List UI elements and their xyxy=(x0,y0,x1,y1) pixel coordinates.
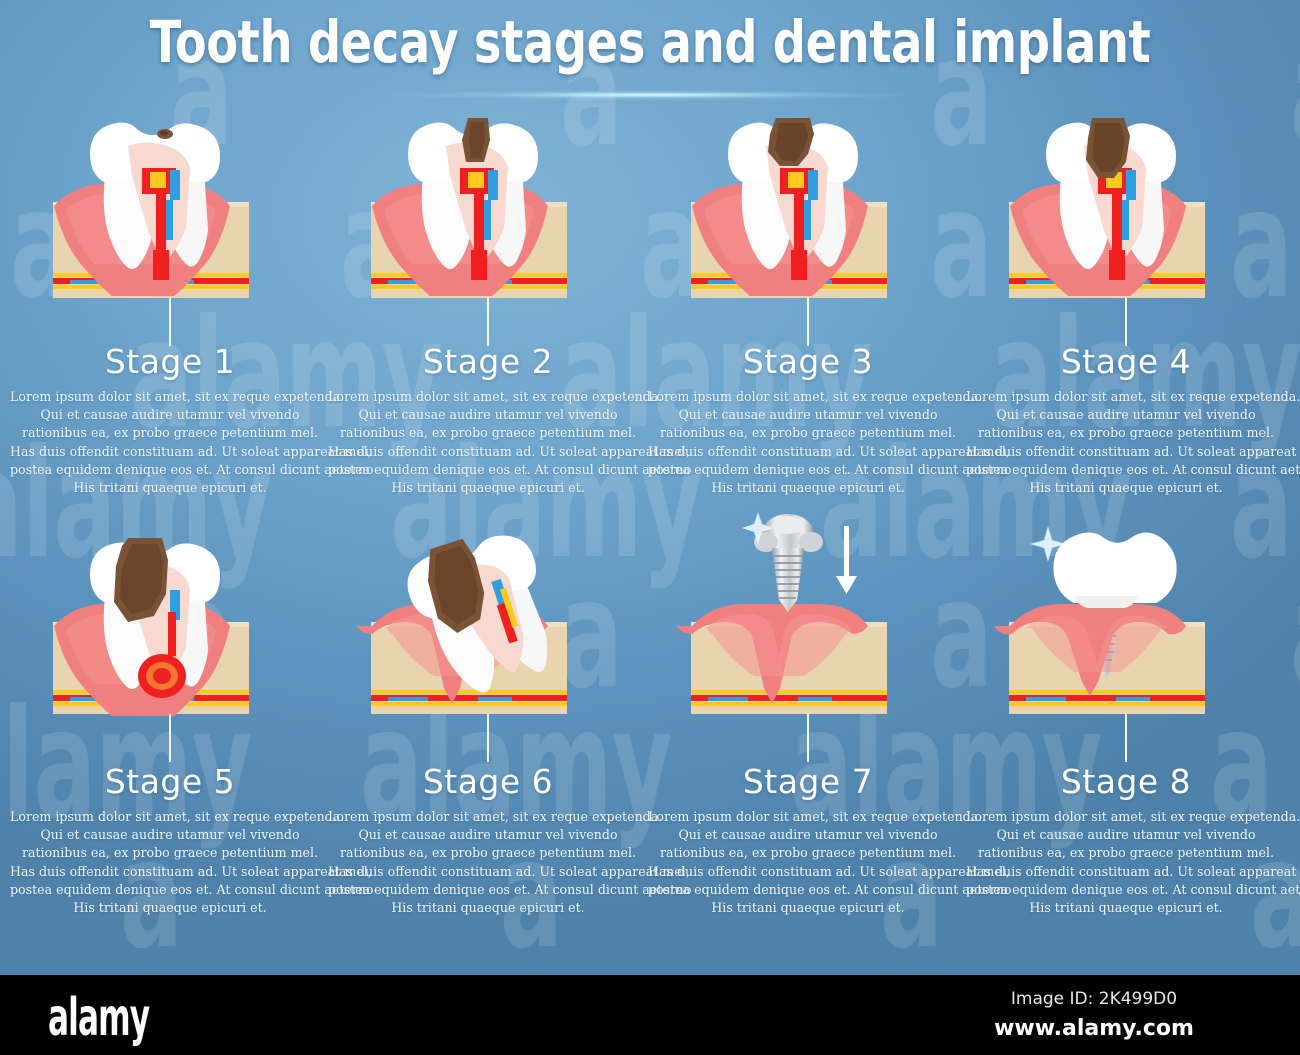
desc-line: Lorem ipsum dolor sit amet, sit ex reque… xyxy=(966,388,1286,406)
desc-line: Qui et causae audire utamur vel vivendo xyxy=(328,826,648,844)
footer-bar: alamy Image ID: 2K499D0 www.alamy.com xyxy=(0,975,1300,1055)
stage-7-label: Stage 7 xyxy=(648,762,968,801)
stage-cell-3[interactable]: Stage 3 Lorem ipsum dolor sit amet, sit … xyxy=(648,110,968,310)
desc-line: rationibus ea, ex probo graece petentium… xyxy=(648,424,968,442)
stage-8-illustration xyxy=(966,500,1286,730)
desc-line: His tritani quaeque epicuri et. xyxy=(10,899,330,917)
stage-6-label: Stage 6 xyxy=(328,762,648,801)
desc-line: Has duis offendit constituam ad. Ut sole… xyxy=(966,863,1286,881)
desc-line: Has duis offendit constituam ad. Ut sole… xyxy=(328,443,648,461)
desc-line: postea equidem denique eos et. At consul… xyxy=(648,881,968,899)
desc-line: postea equidem denique eos et. At consul… xyxy=(648,461,968,479)
tooth-pulp-decay-icon xyxy=(966,110,1286,310)
desc-line: Qui et causae audire utamur vel vivendo xyxy=(966,826,1286,844)
desc-line: Has duis offendit constituam ad. Ut sole… xyxy=(648,863,968,881)
stage-4-illustration xyxy=(966,110,1286,310)
tooth-early-decay-spot-icon xyxy=(10,110,330,310)
desc-line: Has duis offendit constituam ad. Ut sole… xyxy=(10,443,330,461)
stage-4-connector xyxy=(1125,298,1127,346)
tooth-abscess-icon xyxy=(10,500,330,730)
stage-2-label: Stage 2 xyxy=(328,342,648,381)
desc-line: postea equidem denique eos et. At consul… xyxy=(10,881,330,899)
desc-line: rationibus ea, ex probo graece petentium… xyxy=(328,424,648,442)
desc-line: His tritani quaeque epicuri et. xyxy=(648,899,968,917)
desc-line: Lorem ipsum dolor sit amet, sit ex reque… xyxy=(10,388,330,406)
stage-5-label: Stage 5 xyxy=(10,762,330,801)
stage-3-label: Stage 3 xyxy=(648,342,968,381)
stage-4-label: Stage 4 xyxy=(966,342,1286,381)
desc-line: rationibus ea, ex probo graece petentium… xyxy=(966,844,1286,862)
stage-4-description: Lorem ipsum dolor sit amet, sit ex reque… xyxy=(966,388,1286,497)
desc-line: Qui et causae audire utamur vel vivendo xyxy=(966,406,1286,424)
implant-insertion-icon xyxy=(648,500,968,730)
stage-3-illustration xyxy=(648,110,968,310)
desc-line: postea equidem denique eos et. At consul… xyxy=(328,881,648,899)
stage-6-description: Lorem ipsum dolor sit amet, sit ex reque… xyxy=(328,808,648,917)
tooth-extraction-icon xyxy=(328,500,648,730)
stage-cell-2[interactable]: Stage 2 Lorem ipsum dolor sit amet, sit … xyxy=(328,110,648,310)
alamy-url: www.alamy.com xyxy=(944,1016,1244,1041)
desc-line: Lorem ipsum dolor sit amet, sit ex reque… xyxy=(648,808,968,826)
stage-7-connector xyxy=(807,714,809,762)
down-arrow-icon xyxy=(836,526,857,594)
stage-cell-6[interactable]: Stage 6 Lorem ipsum dolor sit amet, sit … xyxy=(328,500,648,730)
desc-line: Lorem ipsum dolor sit amet, sit ex reque… xyxy=(648,388,968,406)
stage-8-label: Stage 8 xyxy=(966,762,1286,801)
watermark-text: a xyxy=(1290,560,1300,710)
alamy-logo: alamy xyxy=(48,988,149,1048)
desc-line: Has duis offendit constituam ad. Ut sole… xyxy=(966,443,1286,461)
stage-3-description: Lorem ipsum dolor sit amet, sit ex reque… xyxy=(648,388,968,497)
desc-line: postea equidem denique eos et. At consul… xyxy=(328,461,648,479)
desc-line: Qui et causae audire utamur vel vivendo xyxy=(648,826,968,844)
stage-1-label: Stage 1 xyxy=(10,342,330,381)
desc-line: Qui et causae audire utamur vel vivendo xyxy=(10,406,330,424)
stage-2-connector xyxy=(487,298,489,346)
illustration-canvas: aaaaaaaaaalamyalamyalamyalamyalamyalamya… xyxy=(0,0,1300,975)
stage-6-illustration xyxy=(328,500,648,730)
desc-line: rationibus ea, ex probo graece petentium… xyxy=(328,844,648,862)
desc-line: Lorem ipsum dolor sit amet, sit ex reque… xyxy=(328,388,648,406)
stage-2-illustration xyxy=(328,110,648,310)
desc-line: postea equidem denique eos et. At consul… xyxy=(966,461,1286,479)
desc-line: Qui et causae audire utamur vel vivendo xyxy=(328,406,648,424)
stage-1-connector xyxy=(169,298,171,346)
stage-cell-1[interactable]: Stage 1 Lorem ipsum dolor sit amet, sit … xyxy=(10,110,330,310)
image-id-text: Image ID: 2K499D0 xyxy=(944,989,1244,1009)
stage-8-connector xyxy=(1125,714,1127,762)
desc-line: His tritani quaeque epicuri et. xyxy=(966,479,1286,497)
desc-line: rationibus ea, ex probo graece petentium… xyxy=(966,424,1286,442)
stage-6-connector xyxy=(487,714,489,762)
desc-line: Lorem ipsum dolor sit amet, sit ex reque… xyxy=(966,808,1286,826)
desc-line: postea equidem denique eos et. At consul… xyxy=(966,881,1286,899)
implant-crown-complete-icon xyxy=(966,500,1286,730)
tooth-dentin-decay-icon xyxy=(648,110,968,310)
infographic-root: aaaaaaaaaalamyalamyalamyalamyalamyalamya… xyxy=(0,0,1300,1055)
stage-1-description: Lorem ipsum dolor sit amet, sit ex reque… xyxy=(10,388,330,497)
stage-8-description: Lorem ipsum dolor sit amet, sit ex reque… xyxy=(966,808,1286,917)
desc-line: His tritani quaeque epicuri et. xyxy=(10,479,330,497)
desc-line: Lorem ipsum dolor sit amet, sit ex reque… xyxy=(328,808,648,826)
desc-line: His tritani quaeque epicuri et. xyxy=(966,899,1286,917)
desc-line: postea equidem denique eos et. At consul… xyxy=(10,461,330,479)
watermark-text: a xyxy=(1290,18,1300,168)
desc-line: Qui et causae audire utamur vel vivendo xyxy=(648,406,968,424)
page-title: Tooth decay stages and dental implant xyxy=(130,8,1170,76)
title-divider xyxy=(380,88,920,102)
desc-line: Lorem ipsum dolor sit amet, sit ex reque… xyxy=(10,808,330,826)
desc-line: Qui et causae audire utamur vel vivendo xyxy=(10,826,330,844)
desc-line: Has duis offendit constituam ad. Ut sole… xyxy=(648,443,968,461)
stage-cell-7[interactable]: Stage 7 Lorem ipsum dolor sit amet, sit … xyxy=(648,500,968,730)
stage-cell-4[interactable]: Stage 4 Lorem ipsum dolor sit amet, sit … xyxy=(966,110,1286,310)
desc-line: rationibus ea, ex probo graece petentium… xyxy=(10,424,330,442)
desc-line: rationibus ea, ex probo graece petentium… xyxy=(10,844,330,862)
stage-1-illustration xyxy=(10,110,330,310)
stage-7-description: Lorem ipsum dolor sit amet, sit ex reque… xyxy=(648,808,968,917)
desc-line: His tritani quaeque epicuri et. xyxy=(648,479,968,497)
stage-2-description: Lorem ipsum dolor sit amet, sit ex reque… xyxy=(328,388,648,497)
stage-5-connector xyxy=(169,714,171,762)
stage-3-connector xyxy=(807,298,809,346)
tooth-enamel-decay-icon xyxy=(328,110,648,310)
stage-5-illustration xyxy=(10,500,330,730)
stage-cell-8[interactable]: Stage 8 Lorem ipsum dolor sit amet, sit … xyxy=(966,500,1286,730)
stage-cell-5[interactable]: Stage 5 Lorem ipsum dolor sit amet, sit … xyxy=(10,500,330,730)
desc-line: Has duis offendit constituam ad. Ut sole… xyxy=(10,863,330,881)
stage-7-illustration xyxy=(648,500,968,730)
desc-line: His tritani quaeque epicuri et. xyxy=(328,899,648,917)
desc-line: Has duis offendit constituam ad. Ut sole… xyxy=(328,863,648,881)
stage-5-description: Lorem ipsum dolor sit amet, sit ex reque… xyxy=(10,808,330,917)
desc-line: His tritani quaeque epicuri et. xyxy=(328,479,648,497)
desc-line: rationibus ea, ex probo graece petentium… xyxy=(648,844,968,862)
